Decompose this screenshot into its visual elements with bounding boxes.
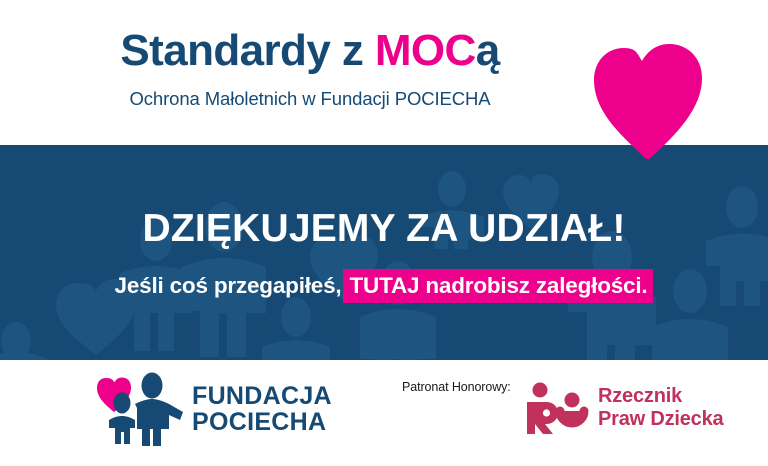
title-part-a-ogonek: ą xyxy=(476,26,500,75)
rzecznik-praw-dziecka-logo[interactable]: Rzecznik Praw Dziecka xyxy=(527,382,723,434)
main-banner-section: DZIĘKUJEMY ZA UDZIAŁ! Jeśli coś przegapi… xyxy=(0,145,768,360)
rzecznik-praw-dziecka-wordmark: Rzecznik Praw Dziecka xyxy=(598,385,723,431)
banner-subline-plain: Jeśli coś przegapiłeś, xyxy=(115,273,342,298)
banner-headline: DZIĘKUJEMY ZA UDZIAŁ! xyxy=(0,207,768,251)
fundacja-wordmark-line1: FUNDACJA xyxy=(192,383,332,410)
patronat-honorowy-label: Patronat Honorowy: xyxy=(402,380,511,394)
fundacja-pociecha-figures-heart-icon xyxy=(97,372,183,446)
title-part-standardy: Standardy z xyxy=(120,26,374,75)
title-part-moc: MOC xyxy=(375,26,476,75)
rzecznik-praw-dziecka-figures-icon xyxy=(527,382,589,434)
page-title: Standardy z MOCą xyxy=(0,28,620,74)
family-heart-watermark-pattern xyxy=(0,145,768,360)
banner-subline: Jeśli coś przegapiłeś,TUTAJ nadrobisz za… xyxy=(0,273,768,299)
rpd-wordmark-line2: Praw Dziecka xyxy=(598,408,723,431)
poster-root: Standardy z MOCą Ochrona Małoletnich w F… xyxy=(0,0,768,466)
banner-subline-highlight-link[interactable]: TUTAJ nadrobisz zaległości. xyxy=(343,269,653,303)
heart-icon xyxy=(592,36,704,161)
fundacja-wordmark-line2: POCIECHA xyxy=(192,409,332,436)
footer-section: FUNDACJA POCIECHA Patronat Honorowy: Rze… xyxy=(0,360,768,466)
fundacja-pociecha-logo[interactable]: FUNDACJA POCIECHA xyxy=(97,372,332,446)
fundacja-pociecha-wordmark: FUNDACJA POCIECHA xyxy=(192,383,332,436)
rpd-wordmark-line1: Rzecznik xyxy=(598,385,723,408)
page-subtitle: Ochrona Małoletnich w Fundacji POCIECHA xyxy=(0,88,620,110)
